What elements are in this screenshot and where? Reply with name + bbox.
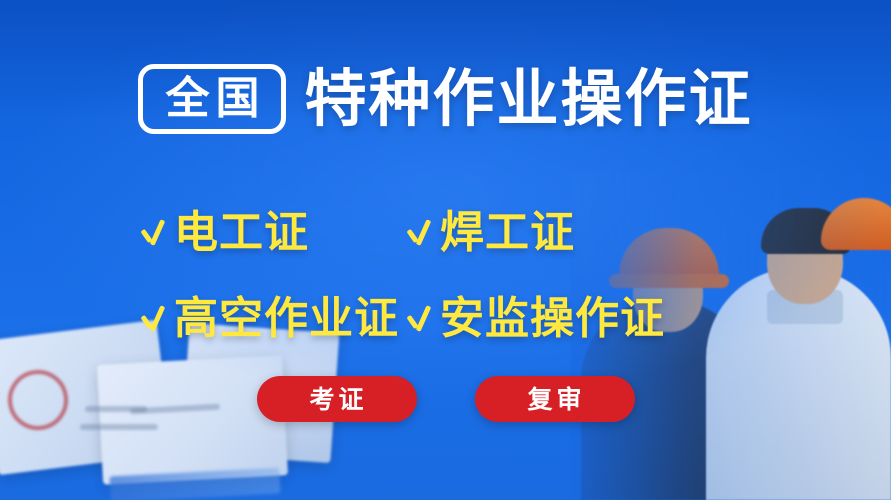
exam-button[interactable]: 考证 [257, 376, 417, 422]
check-icon [406, 304, 432, 334]
check-icon [406, 218, 432, 248]
poster: 全国 特种作业操作证 电工证 焊工证 高空作业证 安监操作证 考证 复审 [0, 0, 891, 500]
nationwide-badge: 全国 [138, 64, 286, 134]
page-title: 特种作业操作证 [304, 68, 752, 130]
check-icon [140, 218, 166, 248]
list-item-hangong[interactable]: 焊工证 [406, 192, 696, 274]
cta-buttons: 考证 复审 [0, 376, 891, 422]
list-item-gaokong[interactable]: 高空作业证 [140, 278, 390, 360]
list-item-label: 电工证 [174, 211, 309, 255]
list-item-anjian[interactable]: 安监操作证 [406, 278, 696, 360]
headline: 全国 特种作业操作证 [0, 64, 891, 134]
list-item-label: 高空作业证 [174, 297, 399, 341]
check-icon [140, 304, 166, 334]
certificate-list: 电工证 焊工证 高空作业证 安监操作证 [140, 192, 760, 360]
list-item-label: 安监操作证 [440, 297, 665, 341]
nationwide-badge-label: 全国 [159, 77, 265, 121]
list-item-label: 焊工证 [440, 211, 575, 255]
review-button[interactable]: 复审 [475, 376, 635, 422]
exam-button-label: 考证 [305, 387, 367, 412]
list-item-dianggong[interactable]: 电工证 [140, 192, 390, 274]
review-button-label: 复审 [523, 387, 585, 412]
